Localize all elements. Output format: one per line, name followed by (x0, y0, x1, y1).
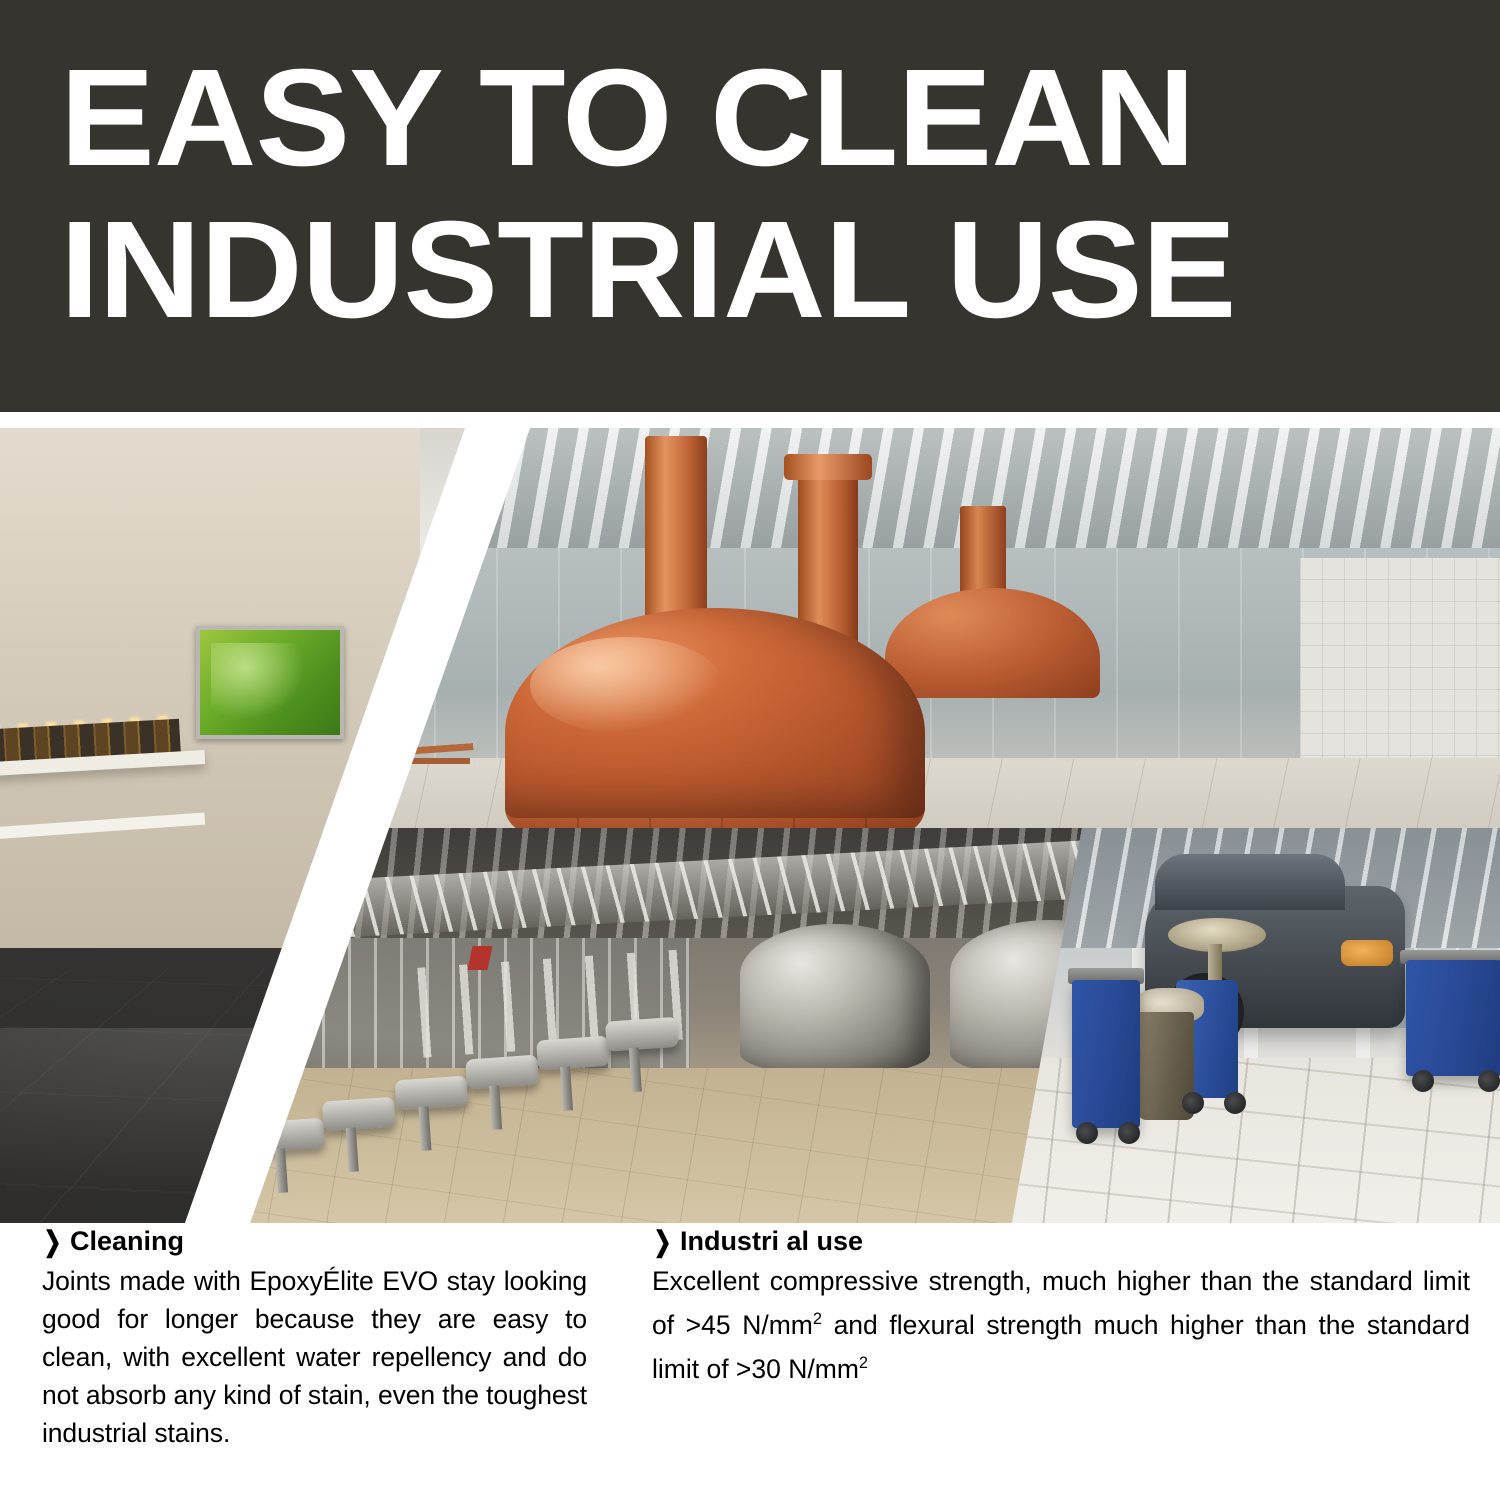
garage-oil-funnel (1168, 918, 1266, 952)
photo-collage (0, 428, 1500, 1223)
winery-valve (322, 1097, 396, 1132)
garage-caster (1118, 1122, 1140, 1144)
header-band: EASY TO CLEAN INDUSTRIAL USE (0, 0, 1500, 412)
winery-valve (251, 1118, 325, 1153)
garage-caster (1412, 1070, 1434, 1092)
caption-cleaning-body: Joints made with EpoxyÉlite EVO stay loo… (42, 1262, 587, 1452)
interior-framed-picture (196, 626, 344, 739)
chevron-right-icon: ❯ (44, 1222, 62, 1262)
page-title-line-1: EASY TO CLEAN (60, 42, 1500, 194)
caption-cleaning: ❯Cleaning Joints made with EpoxyÉlite EV… (42, 1223, 587, 1452)
winery-valve (465, 1055, 539, 1090)
garage-tool-cart-right (1406, 960, 1500, 1076)
caption-area: ❯Cleaning Joints made with EpoxyÉlite EV… (0, 1223, 1500, 1500)
brewery-copper-pipes-b (344, 758, 470, 828)
caption-industrial-heading-label: Industri al use (680, 1226, 863, 1256)
page-title-line-2: INDUSTRIAL USE (60, 194, 1500, 346)
brewery-kettle-stack-secondary (798, 464, 858, 644)
winery-valve (605, 1017, 679, 1052)
winery-valve (536, 1036, 610, 1071)
garage-caster (1076, 1122, 1098, 1144)
caption-cleaning-heading: ❯Cleaning (42, 1223, 587, 1260)
winery-valve-row (244, 982, 737, 1215)
winery-horizontal-tank-a (740, 924, 930, 1074)
garage-caster (1478, 1070, 1500, 1092)
winery-valve (395, 1076, 469, 1111)
caption-cleaning-heading-label: Cleaning (70, 1226, 184, 1256)
garage-tool-cart-left (1072, 980, 1140, 1128)
chevron-right-icon: ❯ (654, 1222, 672, 1262)
garage-caster (1224, 1092, 1246, 1114)
caption-industrial-sup1: 2 (813, 1310, 822, 1328)
brewery-tiled-wall (1300, 558, 1500, 778)
caption-industrial-use: ❯Industri al use Excellent compressive s… (652, 1223, 1470, 1388)
caption-industrial-sup2: 2 (859, 1354, 868, 1372)
caption-industrial-body: Excellent compressive strength, much hig… (652, 1262, 1470, 1388)
page-title: EASY TO CLEAN INDUSTRIAL USE (60, 42, 1500, 346)
caption-industrial-heading: ❯Industri al use (652, 1223, 1470, 1260)
garage-caster (1182, 1092, 1204, 1114)
brewery-kettle-stack-main (645, 436, 707, 636)
